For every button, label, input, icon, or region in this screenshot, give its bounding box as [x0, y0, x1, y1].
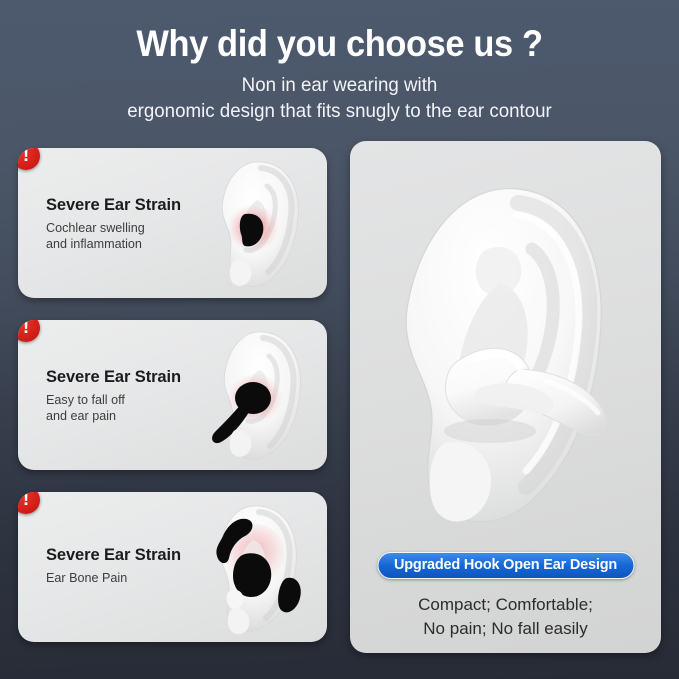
problem-card-description: Easy to fall off and ear pain: [46, 393, 201, 425]
exclamation-glyph: !: [18, 148, 40, 170]
problem-card-title: Severe Ear Strain: [46, 546, 201, 565]
problem-card-description: Ear Bone Pain: [46, 571, 201, 587]
problem-card-description-line-1: Ear Bone Pain: [46, 571, 201, 587]
alert-exclamation-icon: !: [18, 492, 40, 514]
problem-card-title: Severe Ear Strain: [46, 196, 201, 215]
page-title: Why did you choose us ?: [24, 24, 655, 64]
problem-card: ! Severe Ear Strain Easy to fall off and…: [18, 320, 327, 470]
ear-with-stem-earbud-icon: [183, 320, 323, 470]
problem-card-description-line-1: Cochlear swelling: [46, 221, 201, 237]
problem-card-title: Severe Ear Strain: [46, 368, 201, 387]
alert-exclamation-icon: !: [18, 320, 40, 342]
subtitle-line-2: ergonomic design that fits snugly to the…: [14, 99, 666, 125]
exclamation-glyph: !: [18, 492, 40, 514]
problem-card-text: Severe Ear Strain Easy to fall off and e…: [46, 368, 201, 425]
problem-card-description-line-2: and inflammation: [46, 237, 201, 253]
solution-caption-line-1: Compact; Comfortable;: [350, 593, 661, 617]
problem-card: ! Severe Ear Strain Cochlear swelling an…: [18, 148, 327, 298]
problem-card: ! Severe Ear Strain Ear Bone Pain: [18, 492, 327, 642]
subtitle-line-1: Non in ear wearing with: [14, 73, 666, 99]
problem-card-description-line-2: and ear pain: [46, 409, 201, 425]
header: Why did you choose us ? Non in ear weari…: [0, 0, 679, 125]
solution-caption-line-2: No pain; No fall easily: [350, 617, 661, 641]
exclamation-glyph: !: [18, 320, 40, 342]
alert-exclamation-icon: !: [18, 148, 40, 170]
problem-card-description: Cochlear swelling and inflammation: [46, 221, 201, 253]
ear-with-in-ear-tip-icon: [183, 148, 323, 298]
problem-card-text: Severe Ear Strain Ear Bone Pain: [46, 546, 201, 587]
infographic-root: Why did you choose us ? Non in ear weari…: [0, 0, 679, 679]
problem-card-text: Severe Ear Strain Cochlear swelling and …: [46, 196, 201, 253]
solution-badge: Upgraded Hook Open Ear Design: [377, 552, 634, 579]
problem-card-description-line-1: Easy to fall off: [46, 393, 201, 409]
ear-with-open-hook-earbud-icon: [350, 141, 661, 561]
solution-caption: Compact; Comfortable; No pain; No fall e…: [350, 593, 661, 641]
ear-with-clip-earbud-icon: [183, 492, 323, 642]
solution-panel: Upgraded Hook Open Ear Design Compact; C…: [350, 141, 661, 653]
